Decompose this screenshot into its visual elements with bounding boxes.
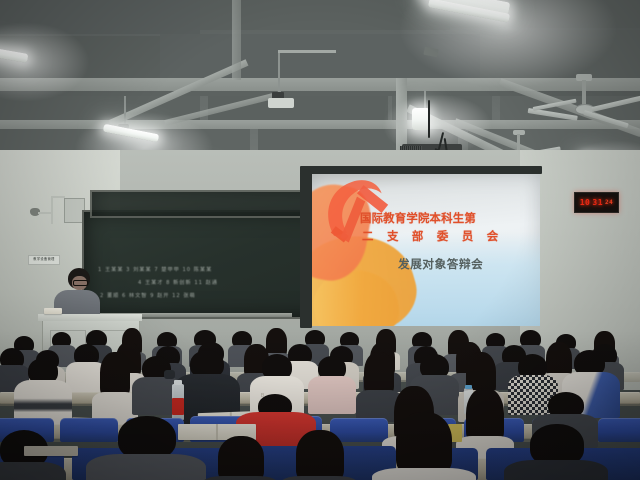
- chalk-line: 2 董顺 6 林文智 9 赵开 12 张萌: [100, 292, 196, 299]
- face-mask: [164, 370, 175, 379]
- bottle-cap: [465, 385, 472, 389]
- desk-items: [24, 446, 78, 456]
- podium-top-surface: [38, 314, 142, 321]
- wall-notice-sign: 教学设备管理: [28, 255, 60, 265]
- clock-seconds: 24: [605, 199, 613, 206]
- projection-screen-frame: [300, 170, 312, 328]
- bottle-cap: [174, 380, 182, 385]
- podium-papers: [44, 308, 62, 314]
- projection-screen-frame: [300, 166, 542, 174]
- led-clock-display: 10 31 24: [574, 192, 619, 213]
- clock-hours: 10: [580, 198, 591, 207]
- clock-minutes: 31: [592, 198, 603, 207]
- slide-title-line-1: 国际教育学院本科生第: [360, 210, 476, 226]
- chair: [60, 418, 118, 442]
- chalk-line: 1 王某某 3 刘某某 7 楚甲甲 10 陈某某: [98, 266, 212, 273]
- bottle-label: [172, 398, 184, 415]
- chair: [598, 418, 640, 442]
- glasses-icon: [73, 280, 88, 286]
- slide-title-line-2: 二 支 部 委 员 会: [362, 228, 503, 244]
- lecture-hall-photo: 教学设备管理 1 王某某 3 刘某某 7 楚甲甲 10 陈某某 4 王某才 8 …: [0, 0, 640, 480]
- projection-screen: 国际教育学院本科生第 二 支 部 委 员 会 发展对象答辩会: [312, 174, 540, 326]
- chalk-line: 4 王某才 8 新创新 11 赵通: [138, 279, 218, 286]
- slide-subtitle: 发展对象答辩会: [398, 256, 483, 272]
